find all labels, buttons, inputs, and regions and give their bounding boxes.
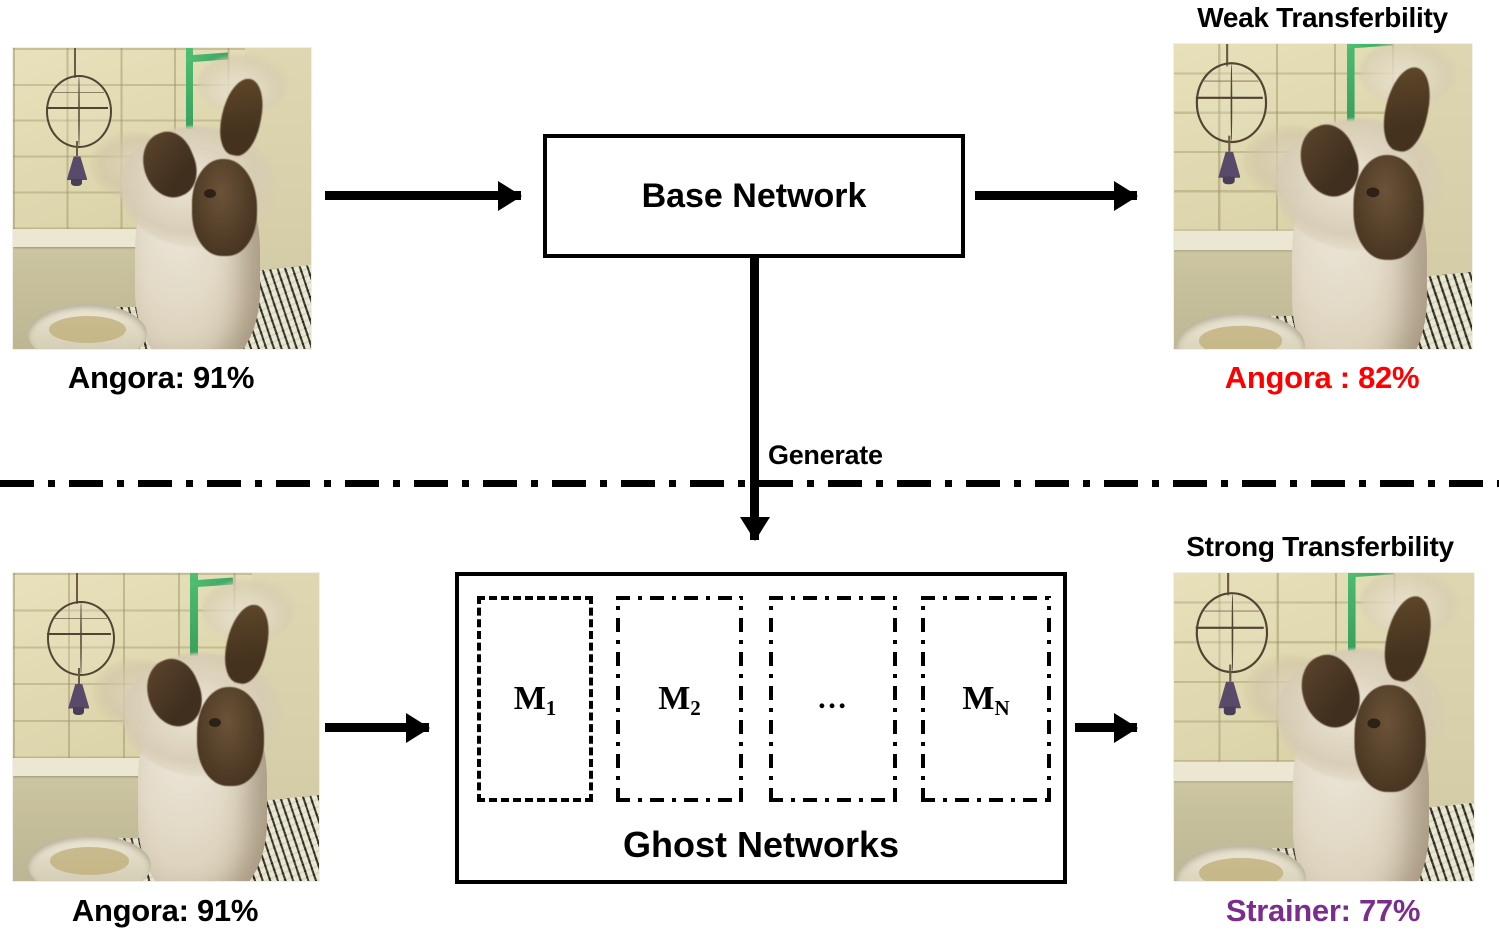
strong-transferbility-caption: Strong Transferbility bbox=[1145, 531, 1495, 563]
top-output-image bbox=[1173, 43, 1473, 350]
base-network-label: Base Network bbox=[547, 138, 961, 254]
top-input-image bbox=[12, 47, 312, 350]
arrow-input-to-base-network bbox=[325, 191, 521, 200]
ghost-member-box-3: … bbox=[769, 596, 897, 802]
ghost-networks-title: Ghost Networks bbox=[459, 824, 1063, 866]
base-network-box: Base Network bbox=[543, 134, 965, 258]
bottom-output-label: Strainer: 77% bbox=[1173, 893, 1473, 929]
section-divider bbox=[0, 480, 1499, 487]
ghost-networks-box: M1 M2 … MN Ghost Networks bbox=[455, 572, 1067, 884]
ghost-member-label-4: MN bbox=[921, 680, 1051, 718]
ghost-member-label-1: M1 bbox=[481, 680, 589, 718]
arrow-ghost-networks-to-output bbox=[1075, 723, 1137, 732]
generate-arrow bbox=[750, 258, 759, 540]
arrow-base-network-to-output bbox=[975, 191, 1137, 200]
ghost-member-label-2: M2 bbox=[616, 680, 743, 718]
top-input-label: Angora: 91% bbox=[12, 360, 310, 396]
weak-transferbility-caption: Weak Transferbility bbox=[1150, 2, 1495, 34]
bottom-output-image bbox=[1173, 572, 1475, 882]
ghost-member-box-4: MN bbox=[921, 596, 1051, 802]
ghost-member-label-3: … bbox=[769, 682, 897, 716]
ghost-member-box-1: M1 bbox=[477, 596, 593, 802]
arrow-input-to-ghost-networks bbox=[325, 723, 429, 732]
bottom-input-label: Angora: 91% bbox=[12, 893, 318, 929]
top-output-label: Angora : 82% bbox=[1173, 360, 1471, 396]
generate-label: Generate bbox=[768, 440, 883, 471]
bottom-input-image bbox=[12, 572, 320, 882]
ghost-member-box-2: M2 bbox=[616, 596, 743, 802]
